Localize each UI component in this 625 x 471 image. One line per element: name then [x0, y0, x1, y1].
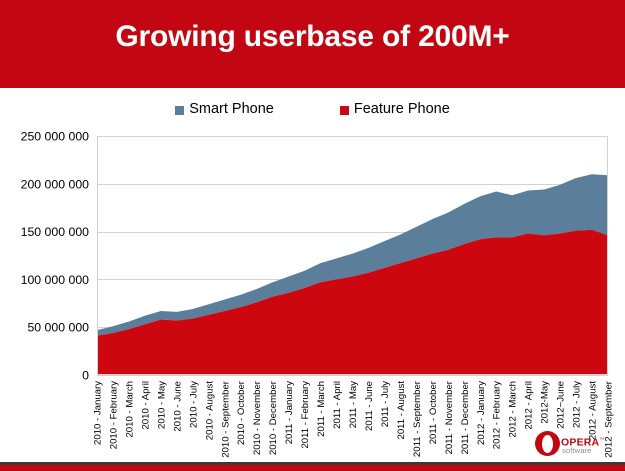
x-axis-tick-label: 2010 - March: [124, 381, 135, 438]
legend-label-feature-phone: Feature Phone: [354, 101, 450, 117]
x-axis-tick-label: 2011 - December: [460, 380, 471, 454]
x-axis-tick-label: 2010 - April: [140, 381, 151, 430]
x-axis-tick-label: 2012 - January: [476, 381, 487, 445]
x-axis-tick-label: 2011 - May: [348, 381, 359, 428]
x-axis-tick-label: 2010 - July: [188, 381, 199, 428]
x-axis-tick-label: 2011 - February: [300, 381, 311, 449]
chart-area: 050 000 000100 000 000150 000 000200 000…: [0, 119, 625, 459]
x-axis-tick-label: 2012 - July: [572, 381, 583, 428]
chart-legend: Smart Phone Feature Phone: [0, 99, 625, 119]
opera-o-inner: [542, 435, 553, 453]
y-axis-tick-label: 100 000 000: [21, 273, 90, 287]
x-axis-tick-label: 2011 - November: [444, 380, 455, 454]
trademark-symbol: ™: [599, 437, 604, 443]
x-axis-tick-label: 2010 - June: [172, 381, 183, 432]
page-title: Growing userbase of 200M+: [0, 17, 625, 57]
opera-logo: OPERA™ software: [535, 431, 597, 457]
legend-swatch-feature-phone: [340, 106, 349, 115]
footer-rule-red: [0, 465, 625, 471]
x-axis-tick-label: 2010 - August: [204, 381, 215, 441]
y-axis-tick-label: 200 000 000: [21, 177, 90, 191]
x-axis-tick-label: 2012 - March: [508, 381, 519, 438]
legend-item-feature-phone: Feature Phone: [340, 101, 450, 117]
x-axis-tick-label: 2010 - October: [236, 380, 247, 445]
opera-subtitle: software: [562, 446, 592, 455]
y-axis-tick-labels: 050 000 000100 000 000150 000 000200 000…: [21, 130, 90, 383]
x-axis-tick-label: 2010 - September: [220, 380, 231, 458]
x-axis-tick-label: 2010 - November: [252, 380, 263, 455]
x-axis-tick-label: 2011 - August: [396, 381, 407, 440]
x-axis-tick-label: 2010 - January: [93, 381, 104, 445]
legend-item-smart-phone: Smart Phone: [175, 101, 274, 117]
x-axis-tick-label: 2010 - May: [156, 381, 167, 429]
legend-label-smart-phone: Smart Phone: [189, 101, 274, 117]
x-axis-tick-label: 2011 - June: [364, 381, 375, 431]
stacked-area-chart: 050 000 000100 000 000150 000 000200 000…: [0, 119, 625, 459]
x-axis-tick-label: 2011 - January: [284, 381, 295, 444]
legend-swatch-smart-phone: [175, 106, 184, 115]
x-axis-tick-label: 2011 - September: [412, 380, 423, 457]
x-axis-tick-label: 2012-May: [540, 381, 551, 424]
area-series-feature-phone: [97, 230, 608, 375]
x-axis-tick-label: 2011 - April: [332, 381, 343, 429]
slide: Growing userbase of 200M+ Smart Phone Fe…: [0, 0, 625, 471]
x-axis-tick-label: 2010 - February: [108, 381, 119, 449]
x-axis-tick-label: 2012 - April: [524, 381, 535, 430]
x-axis-tick-label: 2012 - February: [492, 381, 503, 449]
x-axis-tick-label: 2011 - October: [428, 380, 439, 444]
x-axis-tick-label: 2012~June: [556, 381, 567, 429]
header-band: Growing userbase of 200M+: [0, 0, 625, 88]
x-axis-tick-label: 2011 - July: [380, 381, 391, 427]
y-axis-tick-label: 250 000 000: [21, 130, 90, 144]
y-axis-tick-label: 50 000 000: [27, 321, 89, 335]
y-axis-tick-label: 0: [82, 369, 89, 383]
area-series-group: [97, 174, 608, 375]
x-axis-tick-label: 2010 - December: [268, 380, 279, 455]
x-axis-tick-label: 2011 - March: [316, 381, 327, 437]
x-axis-tick-label: 2012 - September: [604, 380, 615, 458]
y-axis-tick-label: 150 000 000: [21, 225, 90, 239]
opera-o-icon: [535, 431, 560, 456]
